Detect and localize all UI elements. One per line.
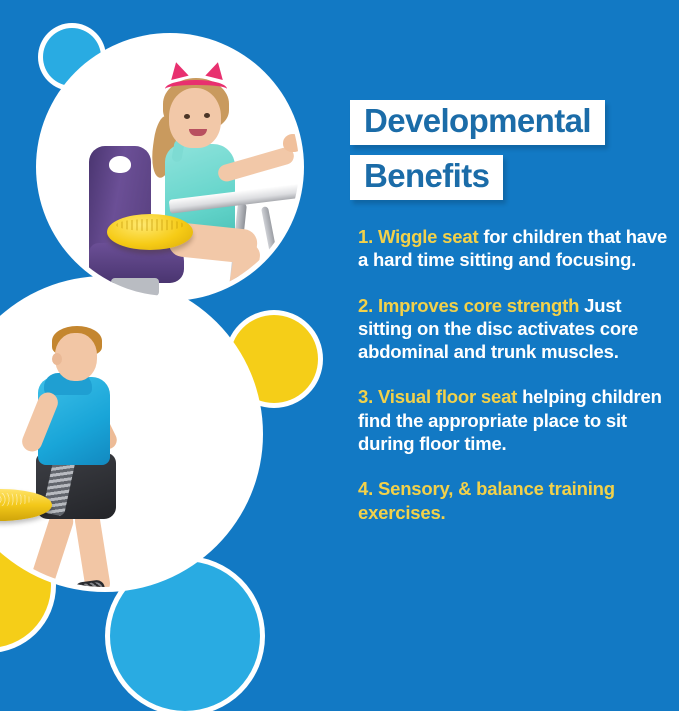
girl-hand bbox=[283, 134, 299, 152]
scene-floor-balance bbox=[0, 281, 258, 587]
page-title-line-1: Developmental bbox=[350, 100, 605, 145]
boy-ear bbox=[52, 353, 62, 365]
benefit-highlight-3: Visual floor seat bbox=[378, 386, 517, 407]
scene-classroom-desk bbox=[41, 38, 299, 296]
benefit-highlight-2: Improves core strength bbox=[378, 295, 579, 316]
benefit-item-2: 2. Improves core strength Just sitting o… bbox=[358, 294, 668, 364]
cat-ear-left-icon bbox=[167, 60, 188, 80]
girl-eye-right bbox=[204, 113, 210, 118]
benefit-text-4: 4. Sensory, & balance training exercises… bbox=[358, 477, 668, 524]
benefit-item-3: 3. Visual floor seat helping children fi… bbox=[358, 385, 668, 455]
benefit-number-1: 1. bbox=[358, 226, 378, 247]
boy-leg-back bbox=[28, 507, 76, 587]
poster-stage: Developmental Benefits 1. Wiggle seat fo… bbox=[0, 0, 679, 679]
boy-leg-front bbox=[73, 508, 111, 587]
photo-girl-on-wiggle-seat bbox=[41, 38, 299, 296]
benefit-text-3: 3. Visual floor seat helping children fi… bbox=[358, 385, 668, 455]
benefit-highlight-4: Sensory, & balance training exercises. bbox=[358, 478, 615, 522]
sock-pattern bbox=[76, 581, 104, 587]
girl-eye-left bbox=[184, 114, 190, 119]
yellow-wiggle-seat-cushion bbox=[107, 214, 193, 250]
text-column: Developmental Benefits 1. Wiggle seat fo… bbox=[350, 0, 679, 679]
photo-boy-on-balance-discs bbox=[0, 281, 258, 587]
benefit-number-2: 2. bbox=[358, 295, 378, 316]
benefit-text-2: 2. Improves core strength Just sitting o… bbox=[358, 294, 668, 364]
page-title-text-2: Benefits bbox=[364, 159, 489, 194]
chair-handle-cutout bbox=[109, 156, 131, 173]
benefit-highlight-1: Wiggle seat bbox=[378, 226, 478, 247]
benefits-list: 1. Wiggle seat for children that have a … bbox=[358, 225, 668, 546]
cat-ear-right-icon bbox=[205, 60, 226, 80]
page-title-line-2: Benefits bbox=[350, 155, 503, 200]
benefit-text-1: 1. Wiggle seat for children that have a … bbox=[358, 225, 668, 272]
benefit-item-4: 4. Sensory, & balance training exercises… bbox=[358, 477, 668, 524]
page-title-text-1: Developmental bbox=[364, 104, 591, 139]
benefit-number-3: 3. bbox=[358, 386, 378, 407]
desk-leg-rear bbox=[261, 206, 284, 291]
girl-headband bbox=[165, 80, 227, 98]
benefit-item-1: 1. Wiggle seat for children that have a … bbox=[358, 225, 668, 272]
chair-leg bbox=[111, 278, 159, 296]
benefit-number-4: 4. bbox=[358, 478, 378, 499]
